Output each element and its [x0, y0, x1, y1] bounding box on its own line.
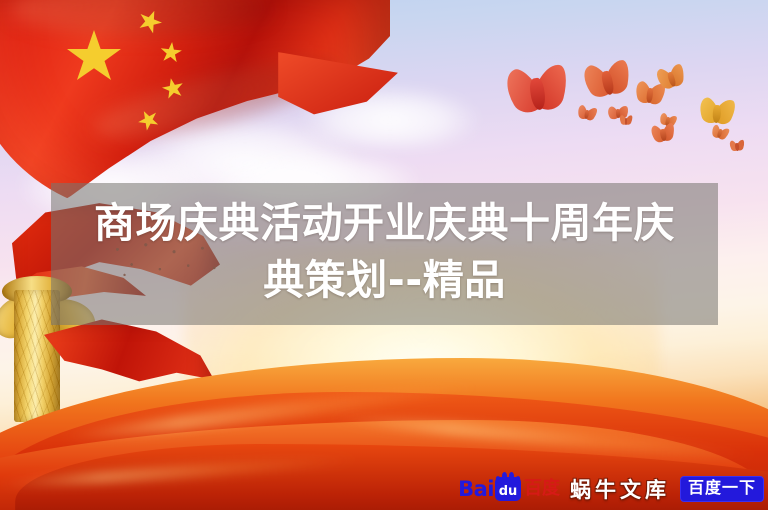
dove-10 — [620, 115, 632, 125]
page-title-line-2: 典策划--精品 — [263, 252, 506, 309]
dove-9 — [651, 122, 676, 144]
baidu-logo[interactable]: Bai du 百度 — [458, 476, 560, 502]
baidu-logo-du: du — [499, 485, 518, 501]
title-overlay-panel: 商场庆典活动开业庆典十周年庆 典策划--精品 — [51, 183, 718, 325]
footer-watermark-bar: Bai du 百度 蜗牛文库 百度一下 — [458, 472, 764, 506]
baidu-paw-badge: du — [495, 477, 521, 501]
page-title-line-1: 商场庆典活动开业庆典十周年庆 — [94, 195, 675, 252]
dove-5 — [699, 97, 735, 125]
paw-print-icon — [496, 472, 520, 485]
poster-canvas: 商场庆典活动开业庆典十周年庆 典策划--精品 Bai du 百度 蜗牛文库 百度… — [0, 0, 768, 510]
baidu-search-button[interactable]: 百度一下 — [680, 476, 764, 503]
baidu-logo-chinese: 百度 — [524, 480, 560, 498]
flag-tip — [278, 52, 398, 132]
brand-watermark: 蜗牛文库 — [570, 474, 670, 504]
baidu-logo-bai: Bai — [458, 479, 494, 500]
dove-1 — [505, 62, 569, 116]
dove-12 — [729, 139, 744, 151]
